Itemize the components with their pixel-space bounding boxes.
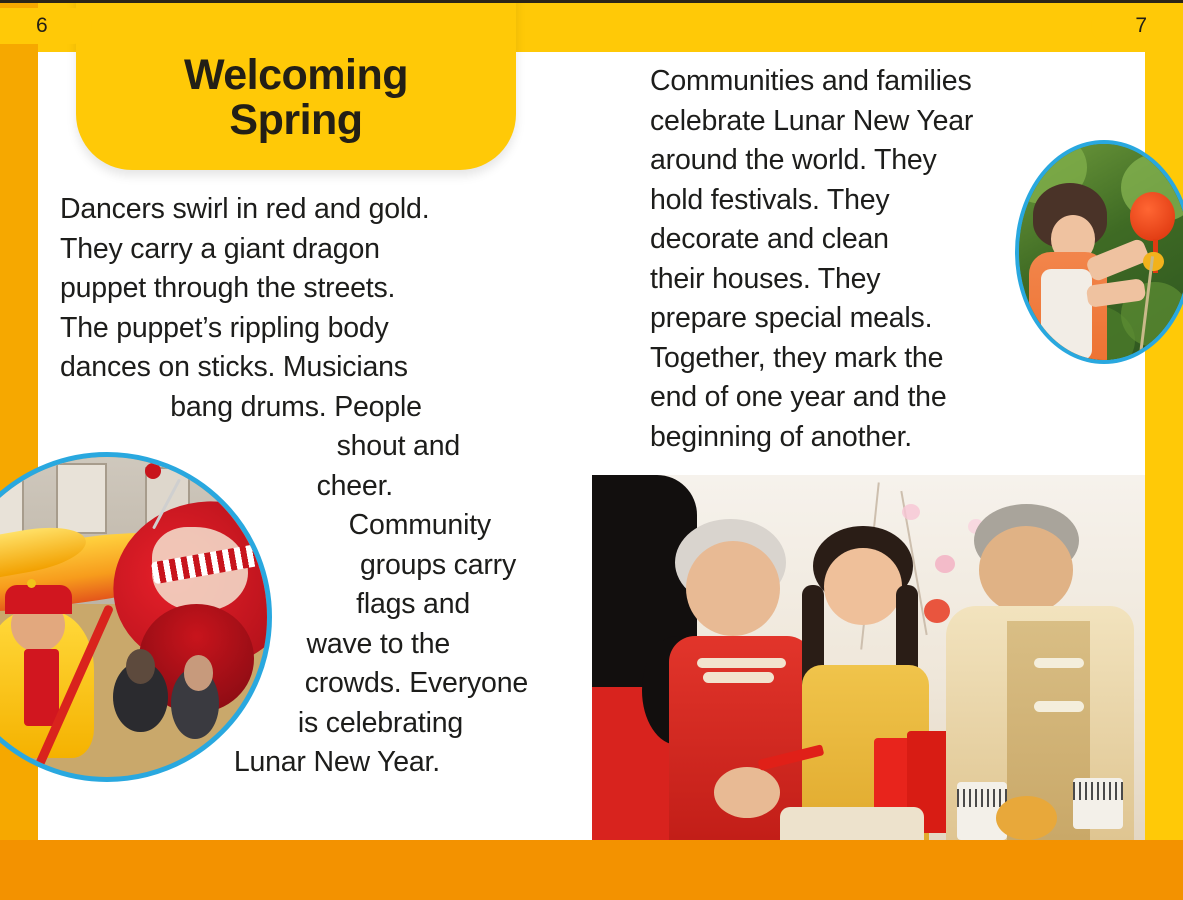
page-title-line-2: Spring bbox=[229, 96, 362, 144]
page-number-right-value: 7 bbox=[1135, 14, 1147, 38]
bottom-orange-bar bbox=[0, 840, 1183, 900]
body-line: prepare special meals. bbox=[650, 299, 1050, 339]
body-line: celebrate Lunar New Year bbox=[650, 102, 1050, 142]
right-page: Communities and families celebrate Lunar… bbox=[592, 0, 1183, 900]
body-line: bang drums. People bbox=[60, 388, 532, 428]
dragon-dance-photo bbox=[0, 452, 272, 782]
top-edge-rule bbox=[0, 0, 1183, 3]
body-line: decorate and clean bbox=[650, 220, 1050, 260]
page-number-left-value: 6 bbox=[36, 14, 48, 38]
page-number-right: 7 bbox=[1091, 8, 1183, 44]
body-line: They carry a giant dragon bbox=[60, 230, 532, 270]
book-page-spread: Welcoming Spring Dancers swirl in red an… bbox=[0, 0, 1183, 900]
family-red-envelope-photo bbox=[592, 475, 1145, 840]
body-line: Together, they mark the bbox=[650, 339, 1050, 379]
body-line: Communities and families bbox=[650, 62, 1050, 102]
page-number-left: 6 bbox=[0, 8, 92, 44]
body-line: beginning of another. bbox=[650, 418, 1050, 458]
left-page: Welcoming Spring Dancers swirl in red an… bbox=[0, 0, 592, 900]
body-line: hold festivals. They bbox=[650, 181, 1050, 221]
body-line: around the world. They bbox=[650, 141, 1050, 181]
right-page-body-text: Communities and families celebrate Lunar… bbox=[650, 62, 1050, 457]
body-line: end of one year and the bbox=[650, 378, 1050, 418]
chapter-title-badge: Welcoming Spring bbox=[76, 0, 516, 170]
body-line: Dancers swirl in red and gold. bbox=[60, 190, 532, 230]
girl-hanging-decoration-photo bbox=[1015, 140, 1183, 364]
page-title: Welcoming Spring bbox=[184, 53, 408, 144]
body-line: The puppet’s rippling body bbox=[60, 309, 532, 349]
page-title-line-1: Welcoming bbox=[184, 51, 408, 99]
body-line: dances on sticks. Musicians bbox=[60, 348, 532, 388]
body-line: their houses. They bbox=[650, 260, 1050, 300]
body-line: puppet through the streets. bbox=[60, 269, 532, 309]
